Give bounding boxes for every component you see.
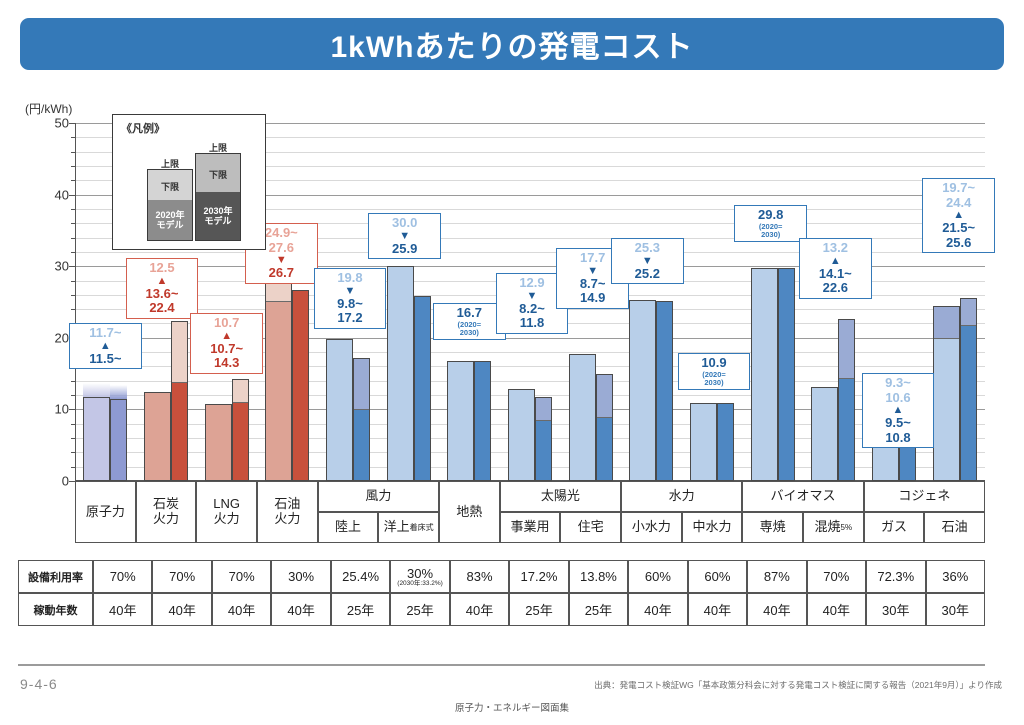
value-callout: 13.2▲14.1~22.6 (799, 238, 872, 299)
legend-lower-label-2020: 下限 (161, 180, 179, 193)
bar-2030-open-top-fade (110, 385, 127, 399)
value-callout: 11.7~▲11.5~ (69, 323, 142, 369)
callout-2030-value: 8.2~11.8 (502, 302, 563, 331)
callout-2030-value: 14.1~22.6 (805, 267, 866, 296)
table-cell-years: 40年 (152, 593, 211, 626)
y-tick-label: 20 (55, 330, 69, 345)
footer-divider (18, 664, 985, 666)
value-callout: 29.8(2020=2030) (734, 205, 807, 242)
bar-2030-太陽光 (535, 397, 552, 481)
callout-2030-value: 9.5~10.8 (868, 416, 929, 445)
y-tick-label: 30 (55, 259, 69, 274)
table-cell-years: 40年 (628, 593, 687, 626)
bar-group (621, 123, 682, 481)
legend-2020-upper-seg: 下限 (148, 170, 192, 202)
bar-group (742, 123, 803, 481)
table-cell-years: 40年 (271, 593, 330, 626)
category-subheader-gas: ガス (864, 512, 925, 543)
callout-2030-value: 25.2 (617, 267, 678, 282)
bar-2030-バイオマス (778, 268, 795, 481)
table-cell-utilization: 70% (807, 560, 866, 593)
callout-2020-value: 12.9 (502, 276, 563, 291)
bar-2030-水力 (656, 301, 673, 481)
bar-2030-地熱 (474, 361, 491, 481)
table-cell-utilization: 60% (688, 560, 747, 593)
y-tick-label: 10 (55, 402, 69, 417)
callout-2020-value: 12.5 (132, 261, 193, 276)
bar-2020-バイオマス (811, 387, 838, 482)
table-cell-years: 40年 (93, 593, 152, 626)
bar-2030-石炭 (171, 321, 188, 481)
table-cell-utilization: 87% (747, 560, 806, 593)
table-cell-utilization: 36% (926, 560, 985, 593)
bar-2020-太陽光 (508, 389, 535, 481)
category-header-biomass: バイオマス (742, 481, 863, 512)
legend-lower-label-2030: 下限 (209, 168, 227, 181)
table-row-label: 設備利用率 (18, 560, 93, 593)
category-subheader-juutaku: 住宅 (560, 512, 621, 543)
callout-trend-arrow-icon: ▲ (196, 331, 257, 342)
callout-trend-arrow-icon: ▲ (75, 341, 136, 352)
callout-2030-value: 13.6~22.4 (132, 287, 193, 316)
callout-2030-value: 29.8 (740, 208, 801, 223)
table-cell-years: 30年 (866, 593, 925, 626)
callout-2030-value: 26.7 (251, 266, 312, 281)
table-cell-years: 40年 (688, 593, 747, 626)
value-callout: 9.3~10.6▲9.5~10.8 (862, 373, 935, 448)
category-subheader-oil: 石油 (924, 512, 985, 543)
callout-2020-value: 10.7 (196, 316, 257, 331)
bar-2020-コジェネ (933, 306, 960, 481)
table-cell-years: 40年 (807, 593, 866, 626)
category-subheader-jigyou: 事業用 (500, 512, 561, 543)
table-cell-utilization: 30% (271, 560, 330, 593)
page-title: 1kWhあたりの発電コスト (330, 22, 693, 66)
table-cell-utilization: 60% (628, 560, 687, 593)
table-cell-utilization: 13.8% (569, 560, 628, 593)
category-header-lng: LNG火力 (196, 481, 257, 543)
y-tick-label: 0 (62, 474, 69, 489)
bar-2020-風力 (387, 266, 414, 481)
table-cell-years: 40年 (450, 593, 509, 626)
bar-2030-バイオマス (838, 319, 855, 481)
table-cell-utilization: 72.3% (866, 560, 925, 593)
legend-2020-line2: モデル (156, 220, 183, 230)
source-note: 出典：発電コスト検証WG「基本政策分科会に対する発電コスト検証に関する報告（20… (594, 679, 1002, 691)
bar-2030-lower-segment (961, 325, 976, 480)
callout-trend-arrow-icon: ▲ (805, 256, 866, 267)
table-cell-years: 40年 (212, 593, 271, 626)
category-header-suiryoku: 水力 (621, 481, 742, 512)
bar-2030-原子力 (110, 399, 127, 481)
callout-2020-value: 19.7~24.4 (928, 181, 989, 210)
publication-title: 原子力・エネルギー図面集 (0, 700, 1024, 714)
table-row-label: 稼動年数 (18, 593, 93, 626)
bar-2030-風力 (353, 358, 370, 481)
value-callout: 10.7▲10.7~14.3 (190, 313, 263, 374)
value-callout: 19.8▼9.8~17.2 (314, 268, 387, 329)
bar-2030-太陽光 (596, 374, 613, 481)
category-header-chinetsu: 地熱 (439, 481, 500, 543)
bar-2030-lower-segment (172, 382, 187, 480)
category-header-sekiyu: 石油火力 (257, 481, 318, 543)
callout-trend-arrow-icon: ▼ (502, 291, 563, 302)
bar-2020-lower-segment (266, 301, 291, 480)
category-header-fuuryoku: 風力 (318, 481, 439, 512)
table-cell-years: 25年 (390, 593, 449, 626)
table-cell-years: 25年 (569, 593, 628, 626)
bar-2030-lower-segment (233, 402, 248, 480)
bar-2020-地熱 (447, 361, 474, 481)
callout-2020-value: 19.8 (320, 271, 381, 286)
callout-note: (2020=2030) (740, 223, 801, 240)
bar-2020-石油 (265, 283, 292, 481)
callout-note: (2020=2030) (439, 321, 500, 338)
y-tick-label: 50 (55, 116, 69, 131)
callout-2030-value: 9.8~17.2 (320, 297, 381, 326)
category-header-taiyoukou: 太陽光 (500, 481, 621, 512)
bar-group (682, 123, 743, 481)
bar-2020-原子力 (83, 397, 110, 481)
table-cell-utilization: 70% (152, 560, 211, 593)
category-subheader-konshou: 混焼5% (803, 512, 864, 543)
chart-legend: 《凡例》 上限 下限 2020年 モデル 上限 下限 2030年 モデル (112, 114, 266, 250)
category-header-sekitan: 石炭火力 (136, 481, 197, 543)
bar-2030-lower-segment (597, 417, 612, 480)
category-header-table: 原子力石炭火力LNG火力石油火力風力陸上洋上着床式地熱太陽光事業用住宅水力小水力… (75, 481, 985, 543)
bar-2030-lower-segment (536, 420, 551, 480)
category-header-cogene: コジェネ (864, 481, 985, 512)
callout-2020-value: 13.2 (805, 241, 866, 256)
bar-2020-水力 (629, 300, 656, 481)
bar-2030-lower-segment (354, 409, 369, 480)
bar-2030-lower-segment (839, 378, 854, 480)
bar-2020-LNG (205, 404, 232, 481)
bar-2030-風力 (414, 296, 431, 481)
bar-2020-太陽光 (569, 354, 596, 481)
bar-2020-lower-segment (934, 338, 959, 480)
category-subheader-shousuiryoku: 小水力 (621, 512, 682, 543)
spec-table: 設備利用率稼動年数70%40年70%40年70%40年30%40年25.4%25… (18, 560, 985, 626)
callout-2030-value: 10.9 (684, 356, 745, 371)
category-subheader-youjou: 洋上着床式 (378, 512, 439, 543)
table-cell-years: 25年 (509, 593, 568, 626)
callout-2020-value: 9.3~10.6 (868, 376, 929, 405)
legend-2020-line1: 2020年 (155, 210, 184, 220)
table-cell-utilization: 17.2% (509, 560, 568, 593)
legend-bar-2020: 下限 2020年 モデル (147, 169, 193, 241)
bar-2030-LNG (232, 379, 249, 481)
table-cell-utilization: 25.4% (331, 560, 390, 593)
legend-2020-lower-seg: 2020年 モデル (148, 200, 192, 240)
callout-2030-value: 10.7~14.3 (196, 342, 257, 371)
legend-2030-lower-seg: 2030年 モデル (196, 192, 240, 240)
legend-bars: 上限 下限 2020年 モデル 上限 下限 2030年 モデル (147, 141, 243, 241)
bar-2020-open-top-fade (83, 383, 110, 397)
bar-group (257, 123, 318, 481)
bar-group (378, 123, 439, 481)
bar-2020-バイオマス (751, 268, 778, 481)
value-callout: 30.0▼25.9 (368, 213, 441, 259)
value-callout: 10.9(2020=2030) (678, 353, 751, 390)
callout-2020-value: 11.7~ (75, 326, 136, 341)
legend-title: 《凡例》 (121, 120, 165, 136)
bar-2020-石炭 (144, 392, 171, 482)
bar-2030-水力 (717, 403, 734, 481)
bar-2030-コジェネ (960, 298, 977, 481)
table-cell-utilization: 30%(2030年:33.2%) (390, 560, 449, 593)
callout-2030-value: 21.5~25.6 (928, 221, 989, 250)
table-cell-years: 30年 (926, 593, 985, 626)
bar-2030-石油 (292, 290, 309, 481)
table-cell-utilization: 70% (93, 560, 152, 593)
callout-2020-value: 25.3 (617, 241, 678, 256)
callout-trend-arrow-icon: ▼ (374, 231, 435, 242)
table-cell-years: 25年 (331, 593, 390, 626)
callout-trend-arrow-icon: ▼ (617, 256, 678, 267)
category-subheader-chuusuiryoku: 中水力 (682, 512, 743, 543)
bar-2020-水力 (690, 403, 717, 481)
legend-2030-line2: モデル (204, 216, 231, 226)
value-callout: 25.3▼25.2 (611, 238, 684, 284)
bar-group (439, 123, 500, 481)
value-callout: 19.7~24.4▲21.5~25.6 (922, 178, 995, 253)
category-subheader-senshou: 専焼 (742, 512, 803, 543)
value-callout: 12.5▲13.6~22.4 (126, 258, 199, 319)
legend-2030-line1: 2030年 (203, 206, 232, 216)
y-axis-unit-label: (円/kWh) (25, 100, 72, 117)
category-subheader-rikujou: 陸上 (318, 512, 379, 543)
callout-note: (2020=2030) (684, 371, 745, 388)
callout-2030-value: 25.9 (374, 242, 435, 257)
page-number: 9-4-6 (20, 676, 58, 692)
callout-trend-arrow-icon: ▲ (132, 276, 193, 287)
table-cell-utilization: 70% (212, 560, 271, 593)
callout-2030-value: 16.7 (439, 306, 500, 321)
y-tick-label: 40 (55, 187, 69, 202)
bar-2020-風力 (326, 339, 353, 481)
callout-trend-arrow-icon: ▼ (320, 286, 381, 297)
legend-2030-upper-seg: 下限 (196, 154, 240, 194)
callout-2020-value: 30.0 (374, 216, 435, 231)
table-cell-utilization: 83% (450, 560, 509, 593)
table-cell-years: 40年 (747, 593, 806, 626)
category-header-genso: 原子力 (75, 481, 136, 543)
page-title-banner: 1kWhあたりの発電コスト (20, 18, 1004, 70)
bar-group (803, 123, 864, 481)
legend-bar-2030: 下限 2030年 モデル (195, 153, 241, 241)
callout-2030-value: 11.5~ (75, 352, 136, 367)
